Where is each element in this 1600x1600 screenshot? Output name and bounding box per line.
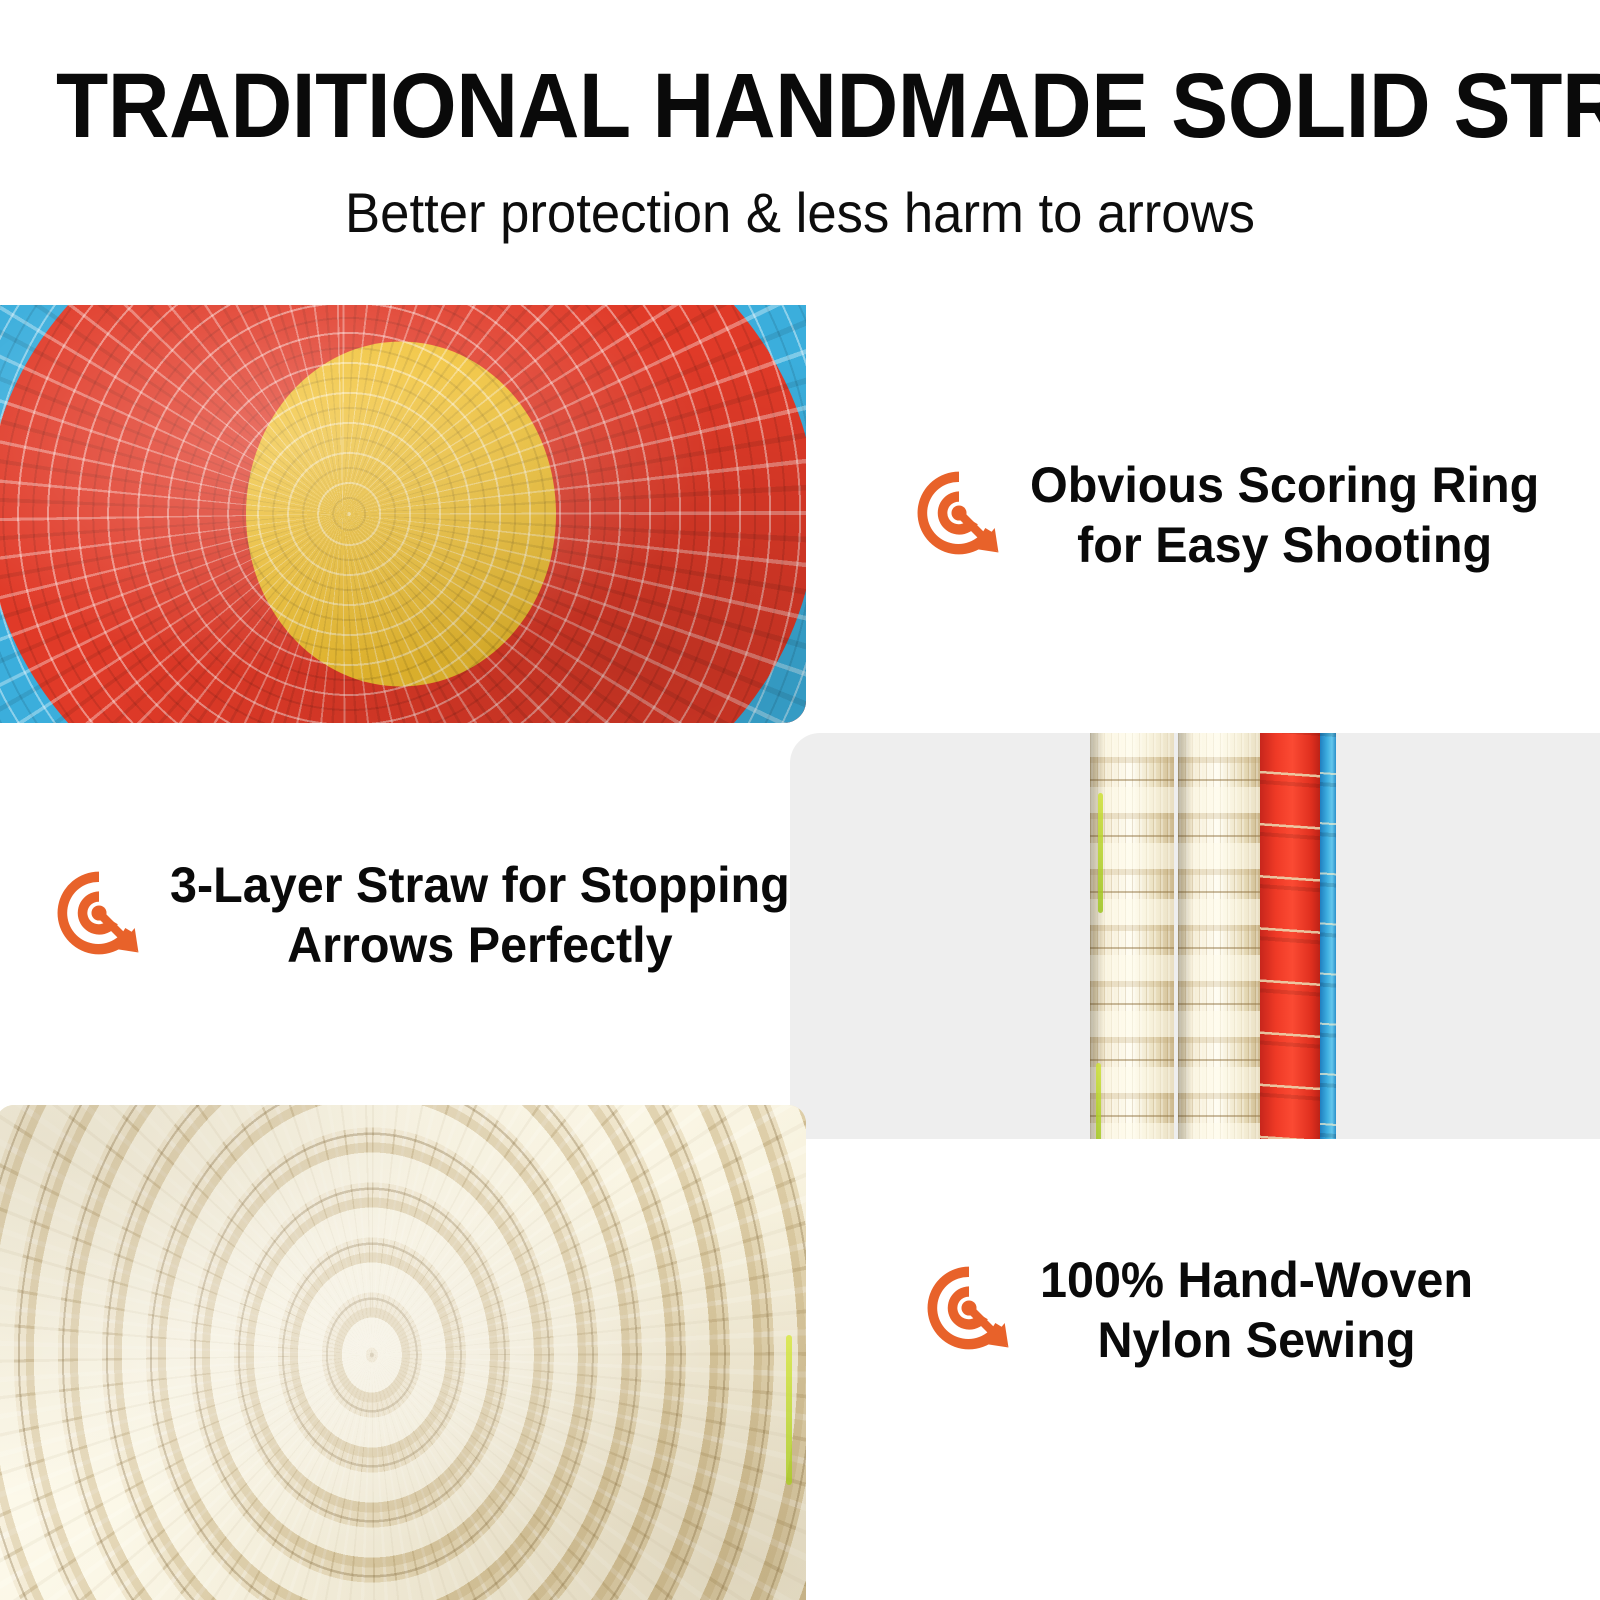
feature-hand-woven: 100% Hand-Woven Nylon Sewing bbox=[922, 1250, 1486, 1370]
target-arrow-icon bbox=[912, 466, 1006, 565]
green-thread-accent bbox=[1098, 793, 1103, 913]
page-title: TRADITIONAL HANDMADE SOLID STRAW bbox=[56, 58, 1544, 154]
straw-spiral-weave bbox=[0, 1105, 806, 1600]
target-arrow-icon bbox=[922, 1261, 1016, 1360]
feature-three-layer-straw: 3-Layer Straw for Stopping Arrows Perfec… bbox=[52, 855, 809, 975]
target-ring-yellow-center bbox=[246, 342, 556, 687]
target-arrow-icon bbox=[52, 866, 146, 965]
feature-scoring-ring-label: Obvious Scoring Ring for Easy Shooting bbox=[1030, 455, 1539, 575]
infographic-page: TRADITIONAL HANDMADE SOLID STRAW Better … bbox=[0, 0, 1600, 1600]
target-rings bbox=[0, 305, 806, 723]
green-thread-accent-2 bbox=[1096, 1063, 1101, 1139]
coil-shadow-2 bbox=[1178, 733, 1192, 1139]
green-thread-accent-3 bbox=[786, 1335, 792, 1485]
target-edge-detail-photo bbox=[790, 733, 1600, 1139]
blue-fabric-coil-strip bbox=[1320, 733, 1336, 1139]
feature-hand-woven-label: 100% Hand-Woven Nylon Sewing bbox=[1040, 1250, 1473, 1370]
red-fabric-coil-column bbox=[1260, 733, 1322, 1139]
feature-scoring-ring: Obvious Scoring Ring for Easy Shooting bbox=[912, 455, 1555, 575]
target-back-straw-photo bbox=[0, 1105, 806, 1600]
archery-target-face-photo bbox=[0, 305, 806, 723]
page-subtitle: Better protection & less harm to arrows bbox=[48, 182, 1552, 244]
feature-three-layer-straw-label: 3-Layer Straw for Stopping Arrows Perfec… bbox=[170, 855, 790, 975]
